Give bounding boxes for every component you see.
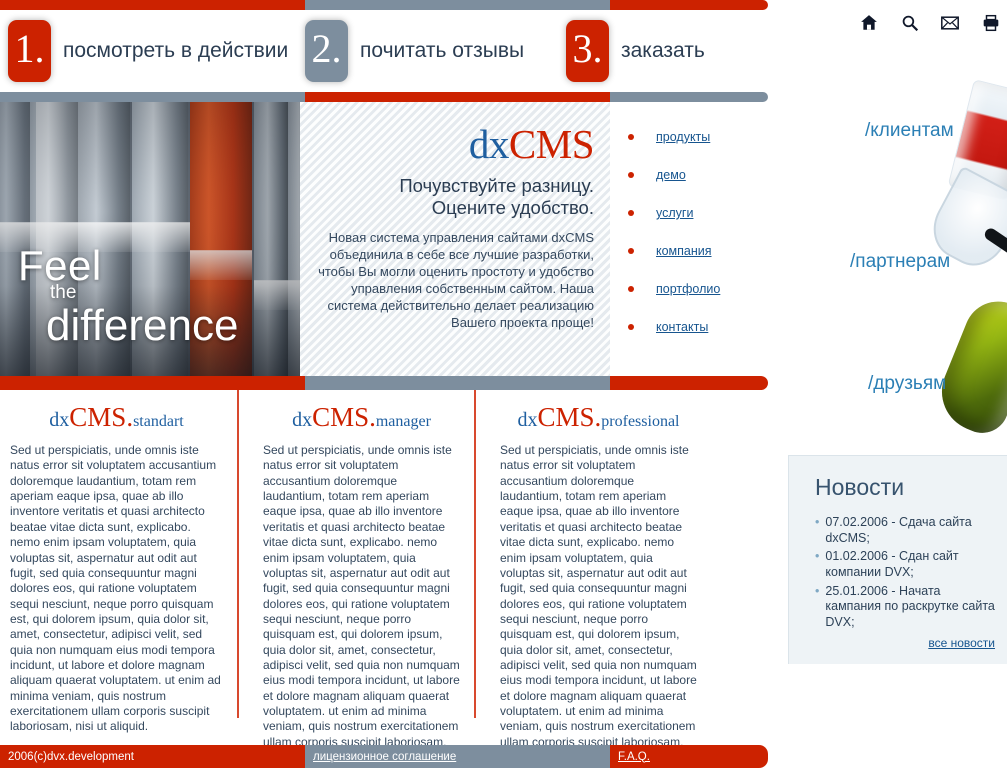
product-dx: dx [49, 409, 69, 431]
step-1[interactable]: 1. посмотреть в действии [8, 10, 288, 92]
hero-caption-line3: difference [46, 304, 238, 348]
bullet-icon [628, 134, 634, 140]
step-2-label: почитать отзывы [360, 39, 524, 63]
news-item[interactable]: • 07.02.2006 - Сдача сайта dxCMS; [815, 515, 999, 546]
product-columns: dxCMS.standart Sed ut perspiciatis, unde… [0, 390, 768, 718]
nav-item-produkty[interactable]: продукты [628, 118, 768, 156]
nav-link-label[interactable]: компания [656, 244, 712, 258]
hero-photo-caption: Feel the difference [18, 245, 238, 348]
steps-nav: 1. посмотреть в действии 2. почитать отз… [0, 10, 768, 92]
sidebar-icon-row [860, 12, 1000, 34]
right-sidebar: /клиентам /партнерам /друзьям Новости • … [768, 0, 1007, 768]
brand-dx: dx [469, 121, 509, 167]
mail-icon[interactable] [941, 14, 959, 32]
bullet-icon [628, 172, 634, 178]
top-bar-segment-red-left [0, 0, 305, 10]
nav-item-kontakty[interactable]: контакты [628, 308, 768, 346]
nav-link-label[interactable]: портфолио [656, 282, 720, 296]
footer-license[interactable]: лицензионное соглашение [305, 745, 610, 768]
bullet-icon: • [815, 549, 819, 580]
bullet-icon [628, 286, 634, 292]
footer-faq-link[interactable]: F.A.Q. [618, 751, 650, 763]
nav-link-label[interactable]: контакты [656, 320, 708, 334]
top-accent-bar [0, 0, 768, 10]
step-3-label: заказать [621, 39, 705, 63]
news-item[interactable]: • 25.01.2006 - Начата кампания по раскру… [815, 584, 999, 631]
hero-promo-panel: dxCMS Почувствуйте разницу. Оцените удоб… [300, 102, 610, 376]
hero-photo-testtubes: Feel the difference [0, 102, 300, 376]
band-bottom-segment-red-left [0, 376, 305, 390]
news-all-link[interactable]: все новости [815, 636, 999, 650]
bullet-icon: • [815, 584, 819, 631]
news-item-text: 01.02.2006 - Сдан сайт компании DVX; [825, 549, 999, 580]
hero-nav-list: продукты демо услуги компания портфолио [610, 102, 768, 376]
nav-link-label[interactable]: продукты [656, 130, 710, 144]
promo-tagline-line1: Почувствуйте разницу. [300, 175, 594, 197]
nav-item-demo[interactable]: демо [628, 156, 768, 194]
product-title-manager: dxCMS.manager [263, 404, 460, 431]
top-bar-segment-gray [305, 0, 610, 10]
product-cms: CMS [69, 402, 126, 432]
product-suffix: manager [376, 413, 431, 430]
product-dx: dx [518, 409, 538, 431]
band-top-segment-gray-right [610, 92, 768, 102]
top-bar-segment-red-right [610, 0, 768, 10]
bullet-icon [628, 210, 634, 216]
footer: 2006(c)dvx.development лицензионное согл… [0, 745, 768, 768]
nav-link-label[interactable]: услуги [656, 206, 693, 220]
news-panel-title: Новости [815, 474, 999, 501]
product-suffix: professional [601, 413, 679, 430]
product-dx: dx [292, 409, 312, 431]
step-3-number: 3. [566, 20, 609, 82]
step-2-number: 2. [305, 20, 348, 82]
promo-tagline: Почувствуйте разницу. Оцените удобство. [300, 175, 594, 219]
band-top-segment-red [305, 92, 610, 102]
product-title-professional: dxCMS.professional [500, 404, 697, 431]
sidebar-link-partners[interactable]: /партнерам [850, 251, 950, 273]
divider-band-top [0, 92, 768, 102]
nav-item-kompaniya[interactable]: компания [628, 232, 768, 270]
hero-caption-line1: Feel [18, 245, 238, 287]
page-root: 1. посмотреть в действии 2. почитать отз… [0, 0, 1007, 768]
product-body-professional: Sed ut perspiciatis, unde omnis iste nat… [500, 443, 697, 766]
decorative-bottle-image [930, 291, 1007, 440]
product-column-manager: dxCMS.manager Sed ut perspiciatis, unde … [237, 390, 474, 718]
step-1-number: 1. [8, 20, 51, 82]
product-body-standart: Sed ut perspiciatis, unde omnis iste nat… [10, 443, 223, 735]
news-item-text: 25.01.2006 - Начата кампания по раскрутк… [825, 584, 999, 631]
news-item[interactable]: • 01.02.2006 - Сдан сайт компании DVX; [815, 549, 999, 580]
home-icon[interactable] [860, 14, 878, 32]
bullet-icon [628, 324, 634, 330]
product-dot: . [369, 402, 376, 432]
brand-logo: dxCMS [300, 124, 594, 165]
band-top-segment-gray-left [0, 92, 305, 102]
footer-faq[interactable]: F.A.Q. [610, 745, 768, 768]
product-title-standart: dxCMS.standart [10, 404, 223, 431]
product-body-manager: Sed ut perspiciatis, unde omnis iste nat… [263, 443, 460, 766]
news-panel: Новости • 07.02.2006 - Сдача сайта dxCMS… [788, 455, 1007, 664]
product-column-professional: dxCMS.professional Sed ut perspiciatis, … [474, 390, 711, 718]
brand-cms: CMS [509, 121, 594, 167]
hero-section: Feel the difference dxCMS Почувствуйте р… [0, 102, 768, 376]
product-cms: CMS [538, 402, 595, 432]
sidebar-link-friends[interactable]: /друзьям [868, 373, 946, 395]
nav-item-uslugi[interactable]: услуги [628, 194, 768, 232]
promo-body-text: Новая система управления сайтами dxCMS о… [300, 229, 594, 332]
sidebar-link-clients[interactable]: /клиентам [865, 120, 954, 142]
step-1-label: посмотреть в действии [63, 39, 288, 63]
product-column-standart: dxCMS.standart Sed ut perspiciatis, unde… [0, 390, 237, 718]
step-2[interactable]: 2. почитать отзывы [305, 10, 524, 92]
main-column: 1. посмотреть в действии 2. почитать отз… [0, 0, 768, 768]
product-cms: CMS [312, 402, 369, 432]
news-item-text: 07.02.2006 - Сдача сайта dxCMS; [825, 515, 999, 546]
nav-item-portfolio[interactable]: портфолио [628, 270, 768, 308]
divider-band-bottom [0, 376, 768, 390]
footer-license-link[interactable]: лицензионное соглашение [313, 751, 456, 763]
footer-copyright-text: 2006(c)dvx.development [8, 751, 134, 763]
nav-link-label[interactable]: демо [656, 168, 686, 182]
band-bottom-segment-red-right [610, 376, 768, 390]
band-bottom-segment-gray [305, 376, 610, 390]
bullet-icon: • [815, 515, 819, 546]
print-icon[interactable] [982, 14, 1000, 32]
footer-copyright: 2006(c)dvx.development [0, 745, 305, 768]
product-suffix: standart [133, 413, 184, 430]
step-3[interactable]: 3. заказать [566, 10, 705, 92]
bullet-icon [628, 248, 634, 254]
promo-tagline-line2: Оцените удобство. [300, 197, 594, 219]
search-icon[interactable] [901, 14, 919, 32]
